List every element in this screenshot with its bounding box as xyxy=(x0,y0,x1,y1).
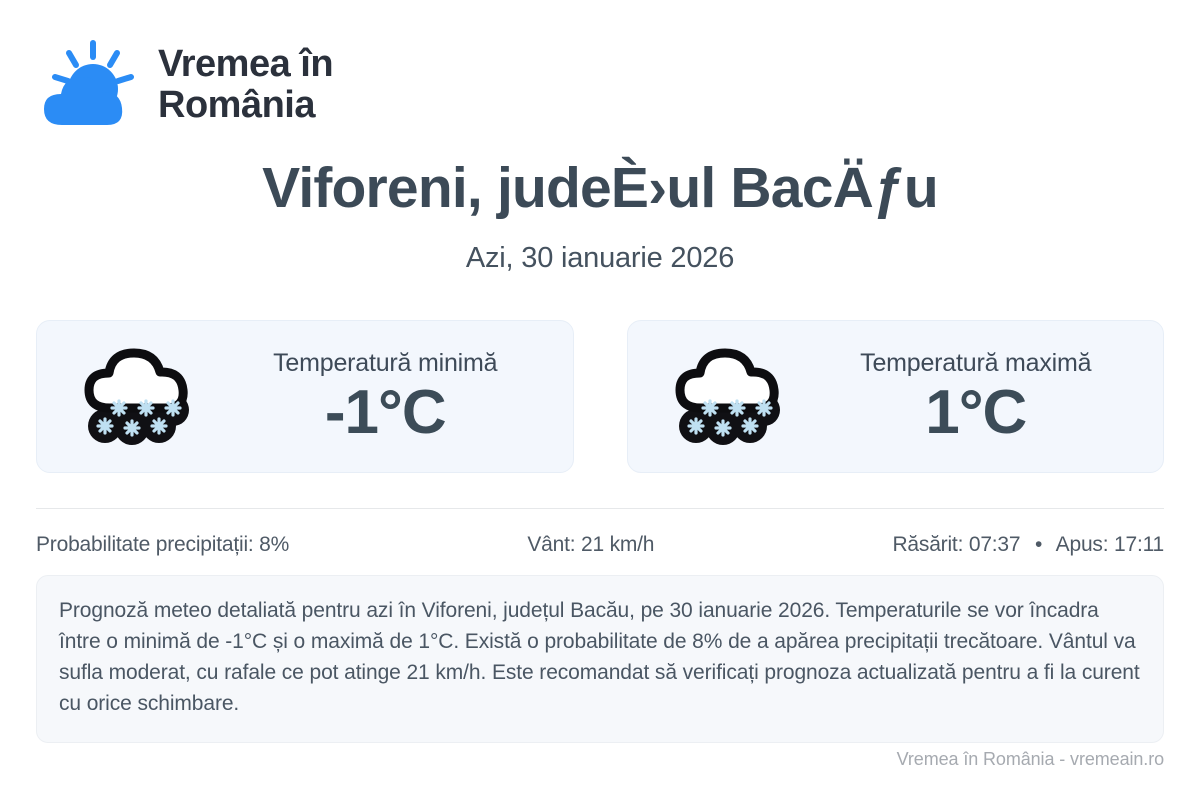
card-temperature-max: Temperatură maximă 1°C xyxy=(627,320,1165,473)
stat-wind: Vânt: 21 km/h xyxy=(289,533,892,557)
card-min-value: -1°C xyxy=(325,380,446,445)
weather-page: Vremea în România Viforeni, judeÈ›ul Bac… xyxy=(0,0,1200,800)
stat-separator: • xyxy=(1035,533,1042,556)
snow-cloud-icon xyxy=(666,342,791,452)
card-max-label: Temperatură maximă xyxy=(860,349,1091,378)
card-max-value: 1°C xyxy=(925,380,1026,445)
temperature-cards: Temperatură minimă -1°C xyxy=(36,320,1164,473)
forecast-description: Prognoză meteo detaliată pentru azi în V… xyxy=(36,575,1164,742)
card-temperature-min: Temperatură minimă -1°C xyxy=(36,320,574,473)
page-footer: Vremea în România - vremeain.ro xyxy=(897,749,1164,770)
card-min-label: Temperatură minimă xyxy=(273,349,497,378)
snow-cloud-icon xyxy=(75,342,200,452)
brand-line-2: România xyxy=(158,85,333,126)
stats-row: Probabilitate precipitații: 8% Vânt: 21 … xyxy=(36,523,1164,567)
page-subtitle: Azi, 30 ianuarie 2026 xyxy=(36,242,1164,275)
brand-line-1: Vremea în xyxy=(158,44,333,85)
site-brand[interactable]: Vremea în România xyxy=(36,0,1164,118)
card-min-body: Temperatură minimă -1°C xyxy=(228,349,573,445)
stat-sun: Răsărit: 07:37 • Apus: 17:11 xyxy=(892,533,1164,557)
sun-behind-cloud-icon xyxy=(36,37,140,133)
stat-sunrise: Răsărit: 07:37 xyxy=(892,533,1020,556)
stat-precipitation: Probabilitate precipitații: 8% xyxy=(36,533,289,557)
card-max-body: Temperatură maximă 1°C xyxy=(819,349,1164,445)
stats-divider xyxy=(36,508,1164,509)
brand-title: Vremea în România xyxy=(158,44,333,126)
stat-sunset: Apus: 17:11 xyxy=(1056,533,1164,556)
page-title: Viforeni, judeÈ›ul BacÄƒu xyxy=(36,158,1164,218)
